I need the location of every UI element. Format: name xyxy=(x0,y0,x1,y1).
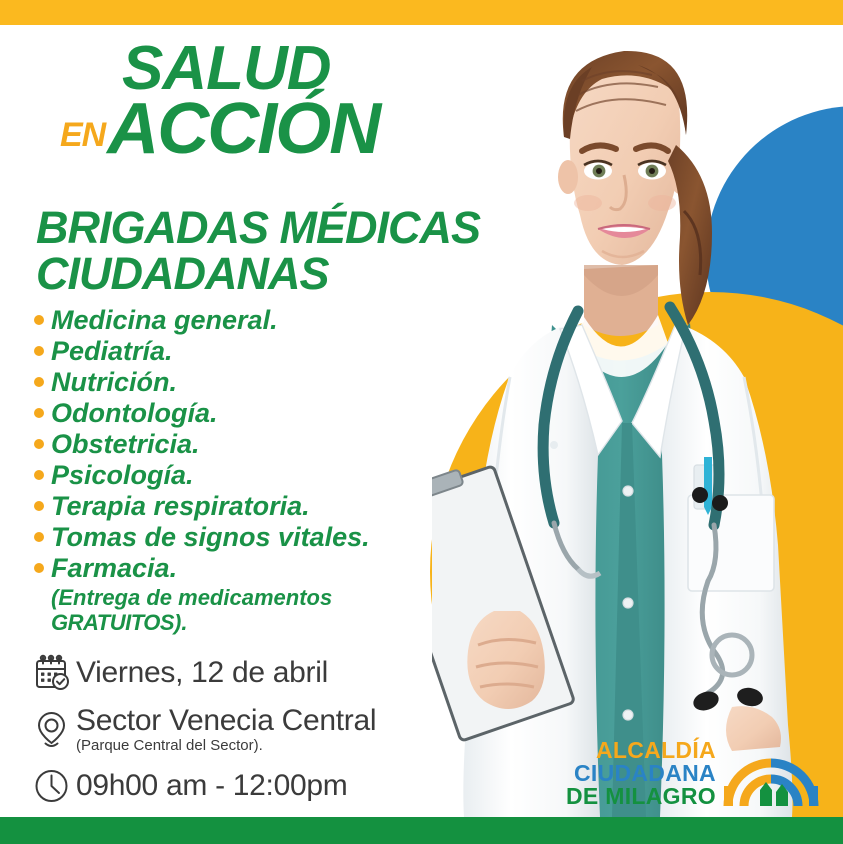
service-label: Medicina general. xyxy=(51,307,278,334)
headline-connector-en: EN xyxy=(60,118,105,152)
list-item: Tomas de signos vitales. xyxy=(34,524,434,551)
pharmacy-note-emphasis: GRATUITOS xyxy=(51,610,174,635)
service-label: Psicología. xyxy=(51,462,194,489)
top-color-band xyxy=(0,0,843,25)
alcaldia-m-arcs-icon xyxy=(722,734,820,813)
alcaldia-logo: ALCALDÍA CIUDADANA DE MILAGRO xyxy=(566,734,820,813)
headline-accion-row: EN ACCIÓN xyxy=(60,97,470,162)
bullet-dot-icon xyxy=(34,501,44,511)
service-label: Terapia respiratoria. xyxy=(51,493,310,520)
service-label: Odontología. xyxy=(51,400,217,427)
bottom-color-band xyxy=(0,817,843,844)
headline-block: SALUD EN ACCIÓN xyxy=(40,40,470,162)
services-list: Medicina general. Pediatría. Nutrición. … xyxy=(34,307,434,635)
list-item: Nutrición. xyxy=(34,369,434,396)
event-place-value: Sector Venecia Central xyxy=(76,705,376,737)
service-label: Obstetricia. xyxy=(51,431,200,458)
service-label: Tomas de signos vitales. xyxy=(51,524,370,551)
event-place-text: Sector Venecia Central (Parque Central d… xyxy=(76,705,376,754)
event-time-text: 09h00 am - 12:00pm xyxy=(76,770,347,802)
pharmacy-note: (Entrega de medicamentos GRATUITOS). xyxy=(51,586,434,635)
list-item: Pediatría. xyxy=(34,338,434,365)
list-item: Medicina general. xyxy=(34,307,434,334)
service-label: Nutrición. xyxy=(51,369,177,396)
clock-icon xyxy=(28,763,76,809)
pharmacy-note-line-1: (Entrega de medicamentos xyxy=(51,586,434,611)
location-pin-icon xyxy=(28,707,76,753)
subtitle-line-1: BRIGADAS MÉDICAS xyxy=(36,205,506,251)
logo-line-ciudadana: CIUDADANA xyxy=(566,762,716,785)
logo-line-alcaldia: ALCALDÍA xyxy=(566,739,716,762)
list-item: Terapia respiratoria. xyxy=(34,493,434,520)
pharmacy-note-tail: ). xyxy=(174,610,187,635)
poster-canvas: SALUD EN ACCIÓN BRIGADAS MÉDICAS CIUDADA… xyxy=(0,0,843,844)
event-date-row: Viernes, 12 de abril xyxy=(28,650,448,696)
headline-accion: ACCIÓN xyxy=(107,97,379,162)
bullet-dot-icon xyxy=(34,346,44,356)
calendar-check-icon xyxy=(28,650,76,696)
bullet-dot-icon xyxy=(34,408,44,418)
service-label: Pediatría. xyxy=(51,338,173,365)
bullet-dot-icon xyxy=(34,532,44,542)
event-date-value: Viernes, 12 de abril xyxy=(76,657,328,689)
pharmacy-note-line-2: GRATUITOS). xyxy=(51,611,434,636)
event-time-row: 09h00 am - 12:00pm xyxy=(28,763,448,809)
bullet-dot-icon xyxy=(34,377,44,387)
event-place-row: Sector Venecia Central (Parque Central d… xyxy=(28,705,448,754)
list-item: Farmacia. xyxy=(34,555,434,582)
alcaldia-logo-text: ALCALDÍA CIUDADANA DE MILAGRO xyxy=(566,739,716,808)
bullet-dot-icon xyxy=(34,315,44,325)
event-place-detail: (Parque Central del Sector). xyxy=(76,738,376,755)
logo-line-de-milagro: DE MILAGRO xyxy=(566,785,716,808)
event-date-text: Viernes, 12 de abril xyxy=(76,657,328,689)
bullet-dot-icon xyxy=(34,563,44,573)
page-title: BRIGADAS MÉDICAS CIUDADANAS xyxy=(36,205,506,298)
event-time-value: 09h00 am - 12:00pm xyxy=(76,770,347,802)
subtitle-line-2: CIUDADANAS xyxy=(36,251,506,297)
service-label: Farmacia. xyxy=(51,555,177,582)
list-item: Odontología. xyxy=(34,400,434,427)
bullet-dot-icon xyxy=(34,470,44,480)
doctor-photo xyxy=(432,25,843,817)
list-item: Psicología. xyxy=(34,462,434,489)
bullet-dot-icon xyxy=(34,439,44,449)
event-details: Viernes, 12 de abril Sector Venecia Cent… xyxy=(28,650,448,818)
list-item: Obstetricia. xyxy=(34,431,434,458)
